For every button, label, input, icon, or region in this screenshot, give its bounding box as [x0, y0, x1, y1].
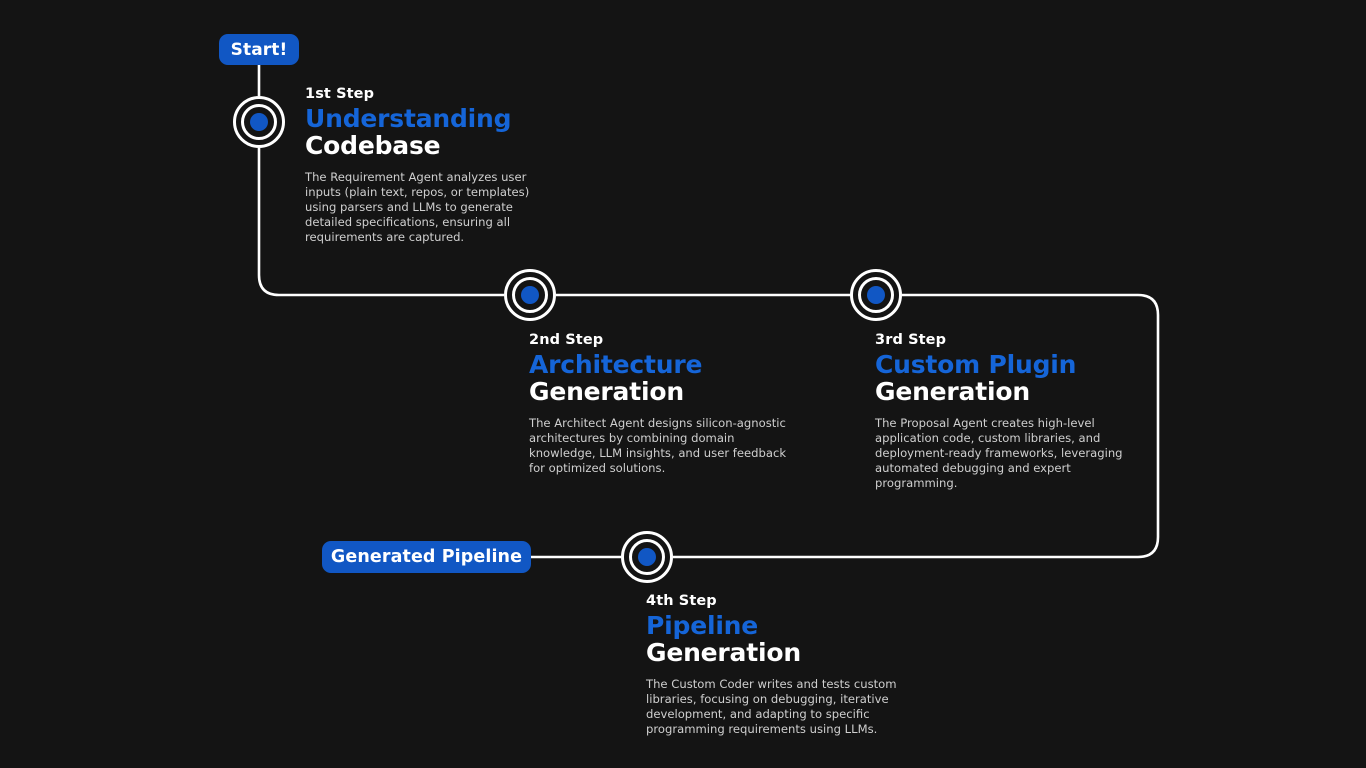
step-description-2: The Architect Agent designs silicon-agno…: [529, 416, 787, 477]
node-center-dot-icon: [250, 113, 268, 131]
node-center-dot-icon: [638, 548, 656, 566]
step-title-accent-3: Custom Plugin: [875, 351, 1147, 378]
step-title-accent-4: Pipeline: [646, 612, 938, 639]
step-node-2[interactable]: [504, 269, 556, 321]
step-label-4: 4th Step: [646, 593, 938, 610]
step-description-3: The Proposal Agent creates high-level ap…: [875, 416, 1147, 492]
step-node-4[interactable]: [621, 531, 673, 583]
step-title-plain-4: Generation: [646, 639, 938, 666]
step-title-2: Architecture Generation: [529, 351, 787, 405]
node-center-dot-icon: [867, 286, 885, 304]
step-block-2: 2nd Step Architecture Generation The Arc…: [529, 332, 787, 476]
start-badge-label: Start!: [231, 40, 288, 60]
step-block-4: 4th Step Pipeline Generation The Custom …: [646, 593, 938, 737]
generated-pipeline-badge-label: Generated Pipeline: [331, 547, 522, 567]
start-badge[interactable]: Start!: [219, 34, 299, 65]
step-title-accent-1: Understanding: [305, 105, 555, 132]
step-title-plain-3: Generation: [875, 378, 1147, 405]
step-block-3: 3rd Step Custom Plugin Generation The Pr…: [875, 332, 1147, 492]
step-title-1: Understanding Codebase: [305, 105, 555, 159]
step-label-2: 2nd Step: [529, 332, 787, 349]
step-title-3: Custom Plugin Generation: [875, 351, 1147, 405]
flow-diagram-canvas: Start! Generated Pipeline 1st Step Under…: [0, 0, 1366, 768]
step-title-plain-1: Codebase: [305, 132, 555, 159]
step-description-4: The Custom Coder writes and tests custom…: [646, 677, 938, 738]
step-label-1: 1st Step: [305, 86, 555, 103]
step-node-3[interactable]: [850, 269, 902, 321]
step-title-accent-2: Architecture: [529, 351, 787, 378]
step-node-1[interactable]: [233, 96, 285, 148]
step-title-plain-2: Generation: [529, 378, 787, 405]
step-title-4: Pipeline Generation: [646, 612, 938, 666]
generated-pipeline-badge[interactable]: Generated Pipeline: [322, 541, 531, 573]
step-block-1: 1st Step Understanding Codebase The Requ…: [305, 86, 555, 246]
step-description-1: The Requirement Agent analyzes user inpu…: [305, 170, 555, 246]
node-center-dot-icon: [521, 286, 539, 304]
step-label-3: 3rd Step: [875, 332, 1147, 349]
